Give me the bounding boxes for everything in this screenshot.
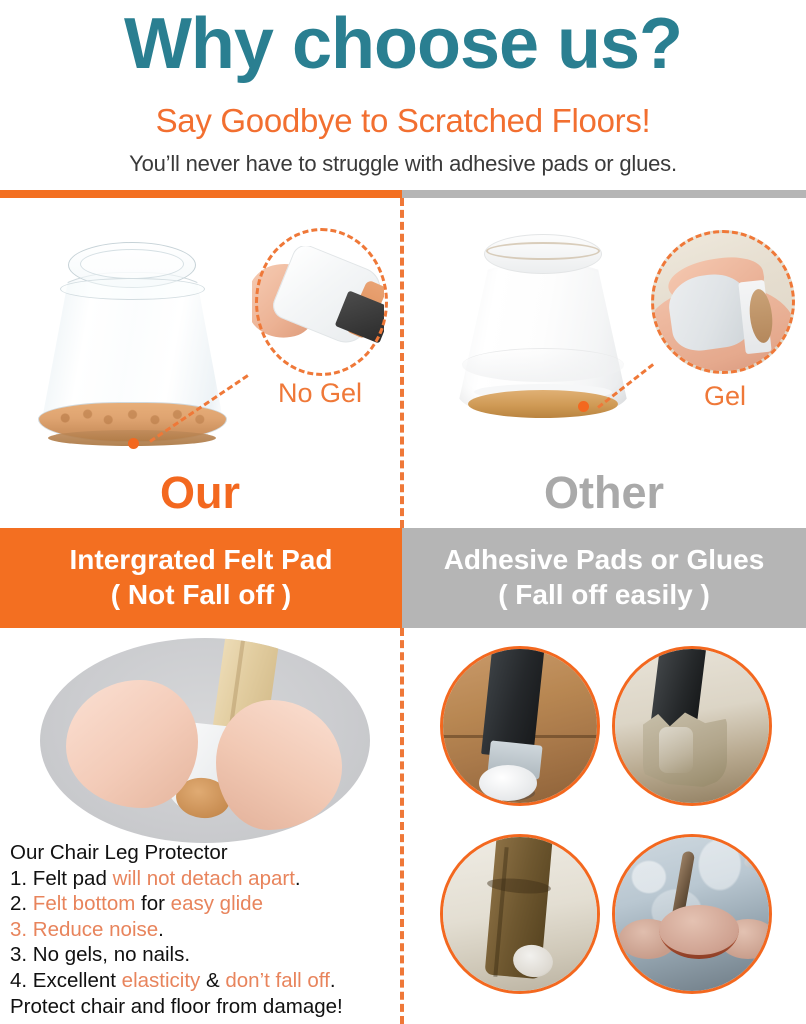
feature-text-part: will not detach apart (113, 867, 295, 890)
banner-our: Intergrated Felt Pad ( Not Fall off ) (0, 528, 402, 628)
divider-bar-right-gray (402, 190, 806, 198)
feature-line: 2. Felt bottom for easy glide (10, 891, 392, 917)
feature-list: Our Chair Leg Protector 1. Felt pad will… (10, 840, 392, 1019)
divider-bar-left-orange (0, 190, 402, 198)
feature-text-part: 2. (10, 892, 33, 915)
banner-other: Adhesive Pads or Glues ( Fall off easily… (402, 528, 806, 628)
label-no-gel: No Gel (255, 380, 385, 407)
feature-text-part: Felt bottom (33, 892, 136, 915)
feature-text-part: elasticity (122, 969, 201, 992)
page-title: Why choose us? (0, 8, 806, 80)
banner-other-line1: Adhesive Pads or Glues (444, 543, 765, 578)
infographic-page: Why choose us? Say Goodbye to Scratched … (0, 0, 806, 1024)
gallery-photo-2 (612, 646, 772, 806)
feature-line: 3. Reduce noise. (10, 917, 392, 943)
banner-our-line1: Intergrated Felt Pad (70, 543, 333, 578)
feature-text-part: easy glide (171, 892, 263, 915)
callout-dot-left (128, 438, 139, 449)
header: Why choose us? Say Goodbye to Scratched … (0, 0, 806, 190)
feature-text-part: 3. Reduce noise (10, 918, 158, 941)
column-label-other: Other (404, 470, 804, 515)
product-image-our-protector (30, 234, 235, 439)
bottom-section: Our Chair Leg Protector 1. Felt pad will… (0, 628, 806, 1024)
comparison-banner: Intergrated Felt Pad ( Not Fall off ) Ad… (0, 528, 806, 628)
feature-text-part: . (330, 969, 336, 992)
page-subtitle: Say Goodbye to Scratched Floors! (0, 104, 806, 137)
install-photo (40, 638, 370, 843)
gallery-photo-4 (612, 834, 772, 994)
banner-our-line2: ( Not Fall off ) (111, 578, 291, 613)
feature-line: 1. Felt pad will not detach apart. (10, 866, 392, 892)
feature-text-part: 1. Felt pad (10, 867, 113, 890)
feature-text-part: & (200, 969, 225, 992)
gallery-photo-1 (440, 646, 600, 806)
gallery-photo-3 (440, 834, 600, 994)
column-label-our: Our (0, 470, 400, 515)
vertical-dashed-divider-top (400, 198, 404, 528)
feature-text-part: don’t fall off (225, 969, 329, 992)
label-gel: Gel (660, 383, 790, 410)
feature-text-part: 3. No gels, no nails. (10, 943, 190, 966)
feature-line: 4. Excellent elasticity & don’t fall off… (10, 968, 392, 994)
page-tagline: You’ll never have to struggle with adhes… (0, 153, 806, 175)
feature-text-part: . (295, 867, 301, 890)
feature-lines: 1. Felt pad will not detach apart.2. Fel… (10, 866, 392, 994)
banner-other-line2: ( Fall off easily ) (498, 578, 710, 613)
feature-text-part: 4. Excellent (10, 969, 122, 992)
feature-text-part: . (158, 918, 164, 941)
feature-text-part: for (135, 892, 170, 915)
feature-heading: Our Chair Leg Protector (10, 840, 392, 866)
feature-line: 3. No gels, no nails. (10, 942, 392, 968)
inset-photo-gel (651, 230, 795, 374)
callout-dot-right (578, 401, 589, 412)
dashed-circle-outline-left (255, 228, 388, 376)
feature-footer: Protect chair and floor from damage! (10, 994, 392, 1020)
